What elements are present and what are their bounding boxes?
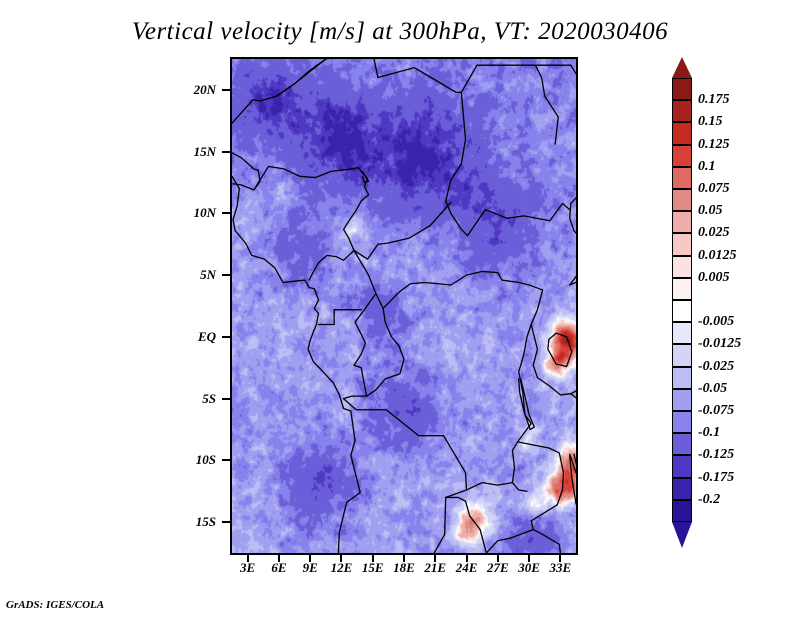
longitude-tick-label: 3E [240,560,255,576]
country-border-line [535,65,558,144]
longitude-tick-mark [403,555,405,562]
latitude-tick-mark [222,459,230,461]
country-border-line [344,308,404,398]
country-border-line [232,59,326,123]
country-border-line [354,202,451,259]
colorbar-segment [672,478,692,500]
latitude-tick-mark [222,212,230,214]
colorbar-tick-label: -0.125 [698,447,734,463]
colorbar-segment [672,344,692,366]
colorbar-tick-label: 0.05 [698,203,723,219]
colorbar-segment [672,455,692,477]
colorbar-tick-label: -0.175 [698,470,734,486]
colorbar-segment [672,367,692,389]
longitude-tick-mark [434,555,436,562]
grads-plot-window: Vertical velocity [m/s] at 300hPa, VT: 2… [0,0,800,618]
latitude-tick-label: 15S [196,514,216,530]
colorbar-tick-label: -0.025 [698,359,734,375]
country-border-line [309,168,368,280]
colorbar-segment [672,278,692,300]
country-borders-overlay [232,59,576,553]
latitude-tick-mark [222,89,230,91]
latitude-tick-label: 10S [196,452,216,468]
colorbar-cap-top [672,57,692,78]
longitude-tick-label: 6E [271,560,286,576]
colorbar-tick-label: -0.1 [698,425,720,441]
country-border-line [354,250,383,308]
longitude-tick-mark [559,555,561,562]
country-border-line [446,92,468,235]
colorbar-segment [672,78,692,100]
longitude-tick-label: 33E [550,560,572,576]
page-title: Vertical velocity [m/s] at 300hPa, VT: 2… [0,18,800,46]
longitude-tick-mark [309,555,311,562]
country-border-line [344,399,467,553]
country-border-line [467,483,513,490]
country-border-line [570,273,576,293]
latitude-tick-label: 15N [194,144,216,160]
colorbar-segment [672,256,692,278]
latitude-tick-mark [222,336,230,338]
colorbar-tick-label: 0.005 [698,270,730,286]
country-border-line [232,153,260,190]
latitude-tick-label: 20N [194,82,216,98]
latitude-tick-label: 10N [194,205,216,221]
colorbar-tick-label: -0.0125 [698,336,741,352]
colorbar-segment [672,233,692,255]
colorbar-segment [672,167,692,189]
colorbar-segment [672,145,692,167]
longitude-tick-label: 24E [456,560,478,576]
colorbar-segment [672,100,692,122]
latitude-tick-mark [222,274,230,276]
longitude-tick-mark [528,555,530,562]
latitude-tick-label: 5S [202,391,216,407]
colorbar-tick-label: 0.0125 [698,248,737,264]
colorbar-tick-label: -0.05 [698,381,727,397]
colorbar-segment [672,500,692,522]
latitude-tick-label: EQ [198,329,216,345]
longitude-tick-mark [497,555,499,562]
country-border-line [570,157,576,285]
country-border-line [254,166,358,189]
colorbar-segment [672,189,692,211]
country-border-line [461,65,570,92]
colorbar: 0.1750.150.1250.10.0750.050.0250.01250.0… [672,57,692,552]
colorbar-tick-label: 0.15 [698,114,723,130]
colorbar-segment [672,433,692,455]
country-border-line [446,497,487,553]
longitude-tick-mark [372,555,374,562]
colorbar-segment [672,300,692,322]
latitude-tick-label: 5N [200,267,216,283]
colorbar-segment [672,389,692,411]
latitude-tick-mark [222,151,230,153]
country-border-line [518,442,564,530]
longitude-tick-label: 30E [518,560,540,576]
colorbar-segment [672,411,692,433]
country-border-line [571,280,576,394]
longitude-tick-label: 15E [362,560,384,576]
colorbar-tick-label: -0.005 [698,314,734,330]
colorbar-tick-label: 0.1 [698,159,716,175]
country-border-line [548,333,572,366]
latitude-tick-mark [222,398,230,400]
country-border-line [468,204,570,236]
colorbar-tick-label: -0.075 [698,403,734,419]
longitude-tick-label: 18E [393,560,415,576]
map-plot-area [230,57,578,555]
longitude-tick-mark [340,555,342,562]
country-border-line [486,530,560,553]
colorbar-tick-label: 0.025 [698,225,730,241]
colorbar-cap-bottom [672,522,692,548]
colorbar-segment [672,322,692,344]
country-border-line [383,271,502,308]
colorbar-tick-label: -0.2 [698,492,720,508]
country-border-line [571,65,576,156]
country-border-line [362,171,368,182]
longitude-tick-label: 27E [487,560,509,576]
country-border-line [277,59,326,96]
country-border-line [502,280,543,354]
longitude-tick-mark [247,555,249,562]
longitude-tick-label: 12E [331,560,353,576]
longitude-tick-label: 9E [303,560,318,576]
country-border-line [354,294,376,397]
colorbar-segment [672,122,692,144]
longitude-tick-label: 21E [424,560,446,576]
country-border-line [373,59,462,92]
longitude-tick-mark [278,555,280,562]
colorbar-tick-label: 0.075 [698,181,730,197]
colorbar-tick-label: 0.125 [698,137,730,153]
colorbar-tick-label: 0.175 [698,92,730,108]
latitude-tick-mark [222,521,230,523]
country-border-line [232,176,360,553]
longitude-tick-mark [466,555,468,562]
credit-label: GrADS: IGES/COLA [6,599,104,611]
colorbar-segment [672,211,692,233]
